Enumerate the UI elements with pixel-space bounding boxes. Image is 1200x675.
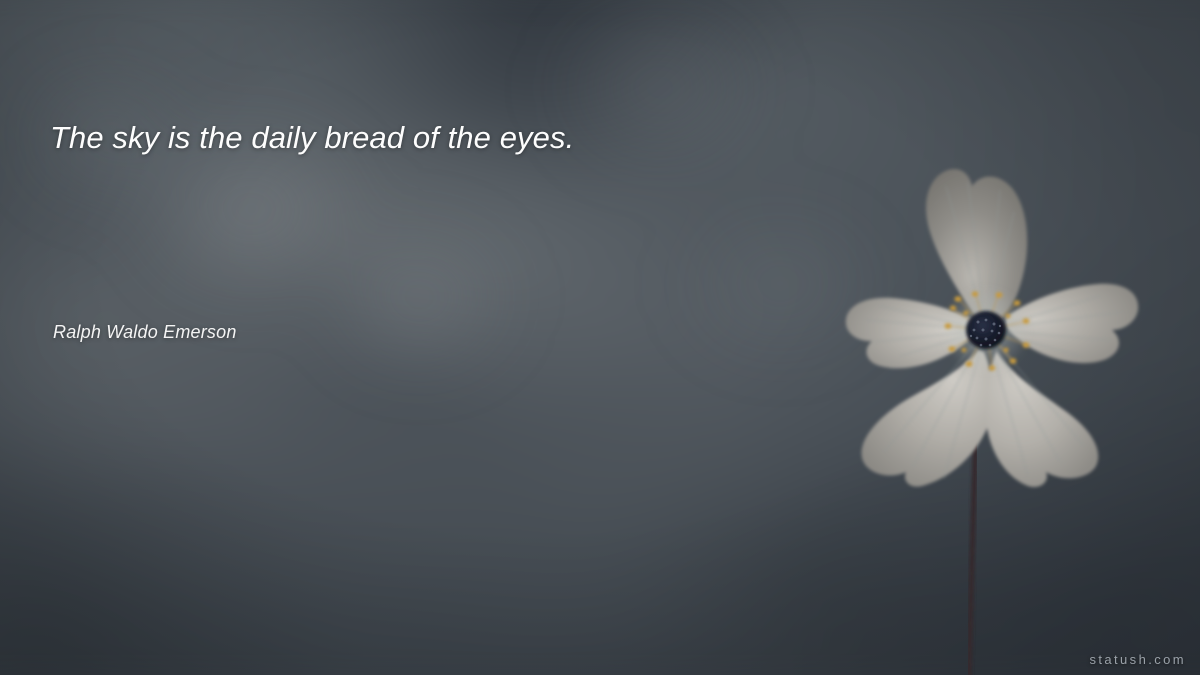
flower-core	[966, 311, 1006, 349]
quote-author: Ralph Waldo Emerson	[53, 322, 237, 343]
flower-stem	[969, 430, 976, 675]
quote-text: The sky is the daily bread of the eyes.	[50, 118, 870, 158]
site-watermark: statush.com	[1090, 652, 1187, 667]
quote-image-canvas: The sky is the daily bread of the eyes. …	[0, 0, 1200, 675]
